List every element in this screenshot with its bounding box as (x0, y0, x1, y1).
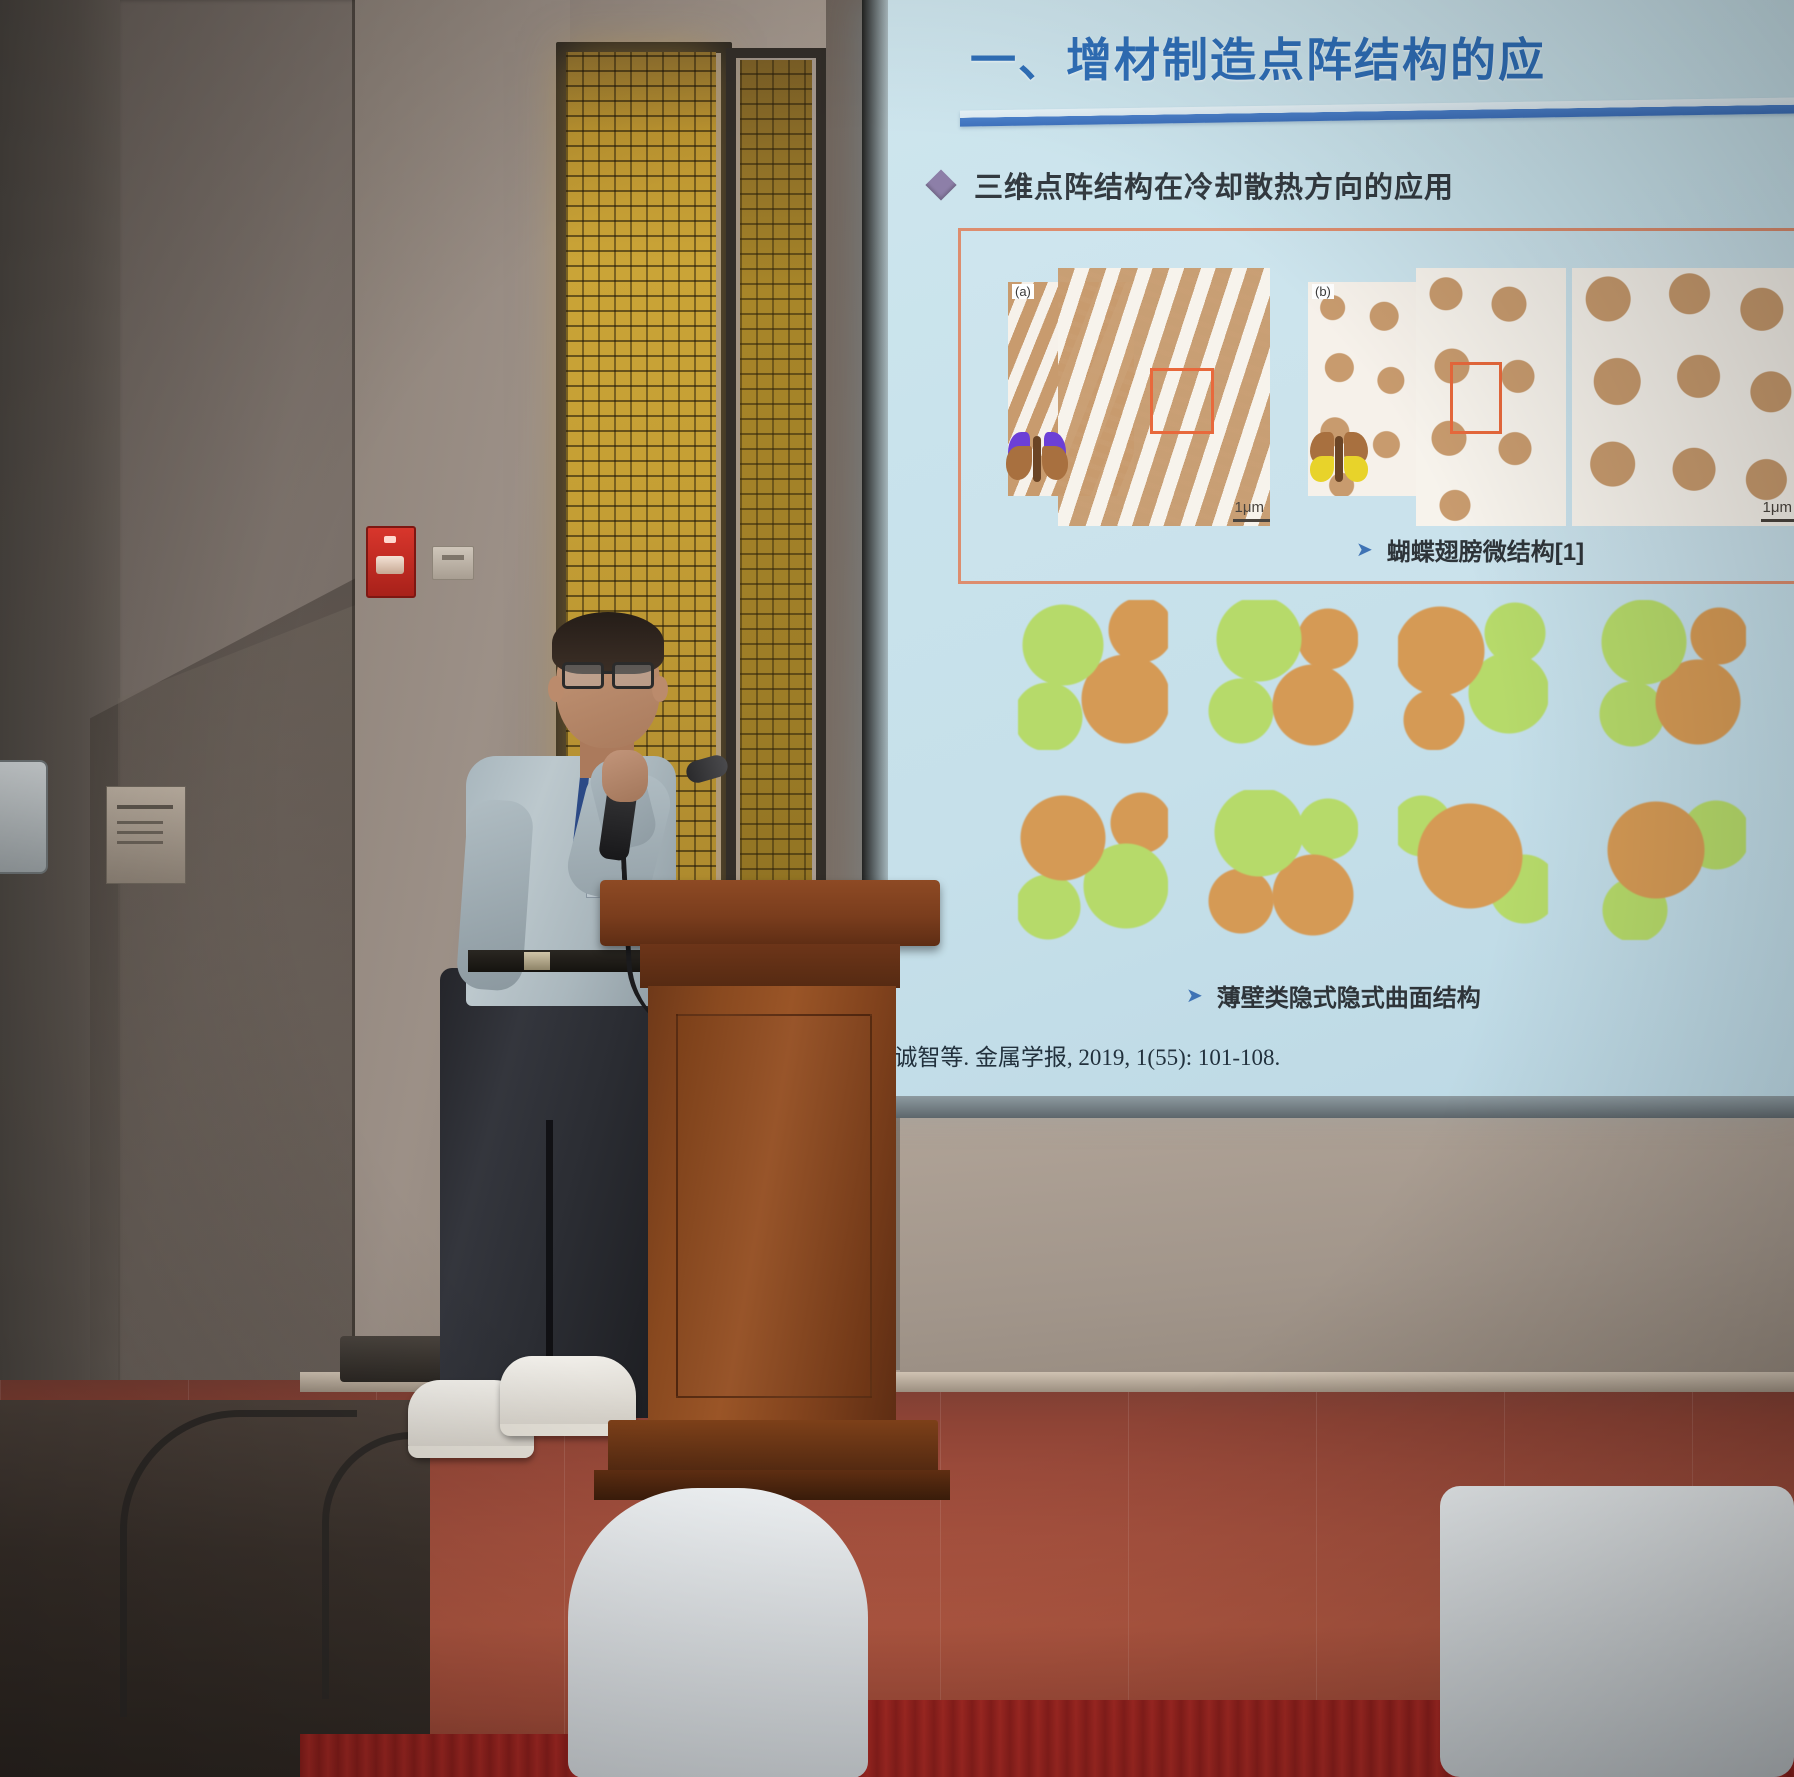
sem-panel-a-scalebar: 1μm (1235, 499, 1264, 516)
sem-panel-b-scalebar: 1μm (1763, 499, 1792, 516)
speaker-hand (602, 750, 648, 802)
wall-sign-plate (106, 786, 186, 884)
tpms-cell (1596, 790, 1746, 940)
podium-neck (640, 944, 900, 988)
slide-title: 一、增材制造点阵结构的应 (970, 24, 1794, 90)
figure-caption-bottom-row: ➤ 薄壁类隐式隐式曲面结构 (1186, 978, 1481, 1013)
tpms-cell (1208, 790, 1358, 940)
wall-diagonal-highlight (118, 600, 368, 1420)
roi-box-b (1450, 362, 1502, 434)
podium-base (608, 1420, 938, 1476)
slide-content: 一、增材制造点阵结构的应 三维点阵结构在冷却散热方向的应用 (a) 1μm (b… (888, 0, 1794, 1096)
tpms-shape (1018, 600, 1168, 750)
tpms-shape (1596, 600, 1746, 750)
tpms-cell (1208, 600, 1358, 750)
tpms-shape (1208, 600, 1358, 750)
eyeglass-bridge (601, 671, 615, 674)
presentation-photo: 一、增材制造点阵结构的应 三维点阵结构在冷却散热方向的应用 (a) 1μm (b… (0, 0, 1794, 1777)
arrow-bullet-icon: ➤ (1186, 983, 1203, 1008)
tpms-cell (1398, 600, 1548, 750)
alarm-led (384, 536, 396, 543)
figure-caption-top: 蝴蝶翅膀微结构[1] (1387, 532, 1584, 567)
butterfly-body (1335, 436, 1343, 482)
podium-top (600, 880, 940, 946)
figure-caption-top-row: ➤ 蝴蝶翅膀微结构[1] (1356, 532, 1584, 567)
podium-front-panel (676, 1014, 872, 1398)
butterfly-hindwing-left (1006, 446, 1032, 480)
shoe-sole (408, 1446, 534, 1458)
butterfly-hindwing-right (1344, 456, 1368, 482)
sem-panel-a-label: (a) (1012, 284, 1034, 299)
speaker-belt-buckle (524, 952, 550, 970)
foreground-chair-left (568, 1488, 868, 1777)
figure-caption-bottom: 薄壁类隐式隐式曲面结构 (1217, 978, 1481, 1013)
alarm-lens (376, 556, 404, 574)
tpms-shape (1208, 790, 1358, 940)
screen-bottom-trim (880, 1096, 1794, 1118)
slide-bullet-text: 三维点阵结构在冷却散热方向的应用 (974, 164, 1454, 206)
foreground-chair-right (1440, 1486, 1794, 1777)
fire-alarm-icon (366, 526, 416, 598)
tpms-cell (1398, 790, 1548, 940)
slide-bullet-row: 三维点阵结构在冷却散热方向的应用 (930, 164, 1454, 206)
butterfly-hindwing-right (1042, 446, 1068, 480)
tpms-cell (1018, 600, 1168, 750)
stage-rail-left-2 (322, 1432, 449, 1699)
sem-panel-b-label: (b) (1312, 284, 1334, 299)
butterfly-body (1033, 436, 1041, 482)
wall-speaker (0, 760, 48, 874)
sem-panel-b-zoom2-cells (1572, 268, 1794, 526)
wall-switch-plate (432, 546, 474, 580)
stage-floor-box (340, 1336, 450, 1382)
tpms-cell (1018, 790, 1168, 940)
tpms-shape (1018, 790, 1168, 940)
tpms-shape (1398, 790, 1548, 940)
tpms-cell (1596, 600, 1746, 750)
eyeglasses-icon (562, 662, 654, 684)
arrow-bullet-icon: ➤ (1356, 537, 1373, 562)
sem-image-panel-b-zoom2: 1μm (1572, 268, 1794, 526)
slide-reference: ] 杨诚智等. 金属学报, 2019, 1(55): 101-108. (858, 1038, 1280, 1072)
tpms-shape (1596, 790, 1746, 940)
tpms-shape (1398, 600, 1548, 750)
tpms-structures-grid (948, 600, 1794, 960)
roi-box-a (1150, 368, 1214, 434)
butterfly-icon-purple (1006, 432, 1068, 486)
butterfly-icon-yellow (1308, 432, 1370, 486)
butterfly-hindwing-left (1310, 456, 1334, 482)
diamond-bullet-icon (925, 169, 956, 200)
slide-title-underline-bar (960, 97, 1794, 126)
speaker-ear-right (652, 676, 668, 702)
eyeglass-lens-left (562, 662, 604, 689)
eyeglass-lens-right (612, 662, 654, 689)
